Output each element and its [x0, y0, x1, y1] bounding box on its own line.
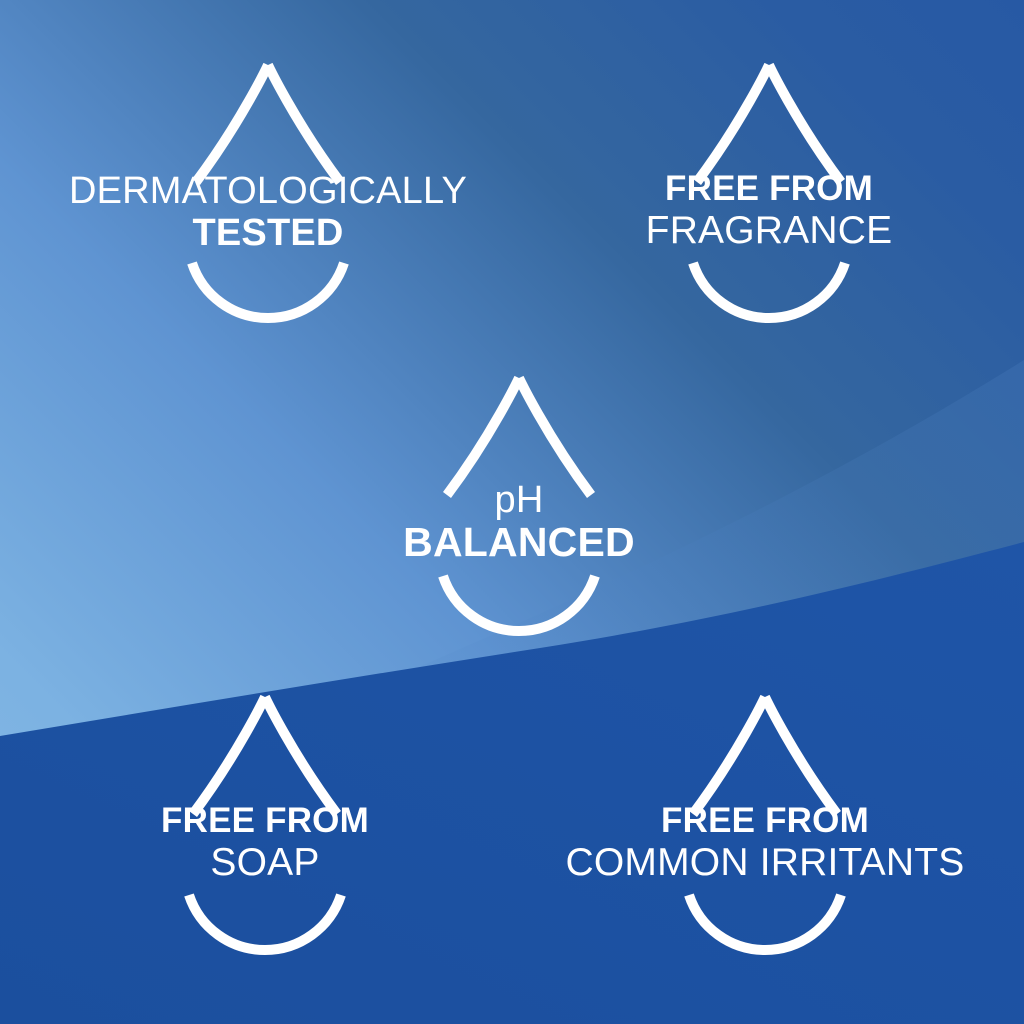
- badge-ph-balanced: pH BALANCED: [436, 373, 602, 641]
- badge-label-line-2: SOAP: [161, 843, 369, 882]
- badge-label-line-2: COMMON IRRITANTS: [566, 843, 965, 882]
- claims-badge-graphic: DERMATOLOGICALLY TESTED FREE FROM FRAGRA…: [0, 0, 1024, 1024]
- badge-dermatologically-tested: DERMATOLOGICALLY TESTED: [185, 60, 351, 328]
- badge-label-line-2: BALANCED: [403, 522, 635, 563]
- badge-free-from-common-irritants: FREE FROM COMMON IRRITANTS: [682, 692, 848, 960]
- badge-label-line-2: TESTED: [69, 214, 467, 252]
- badge-label-line-1: FREE FROM: [566, 803, 965, 838]
- badge-free-from-soap: FREE FROM SOAP: [182, 692, 348, 960]
- badge-label-group: FREE FROM COMMON IRRITANTS: [566, 803, 965, 882]
- badge-free-from-fragrance: FREE FROM FRAGRANCE: [686, 60, 852, 328]
- badge-label-line-2: FRAGRANCE: [646, 211, 893, 250]
- badge-label-line-1: FREE FROM: [646, 171, 893, 206]
- badge-label-group: FREE FROM FRAGRANCE: [646, 171, 893, 250]
- badge-label-group: DERMATOLOGICALLY TESTED: [69, 172, 467, 252]
- badge-label-line-1: DERMATOLOGICALLY: [69, 172, 467, 210]
- badge-label-group: FREE FROM SOAP: [161, 803, 369, 882]
- badge-label-group: pH BALANCED: [403, 481, 635, 563]
- badge-label-line-1: FREE FROM: [161, 803, 369, 838]
- badge-label-line-1: pH: [403, 481, 635, 519]
